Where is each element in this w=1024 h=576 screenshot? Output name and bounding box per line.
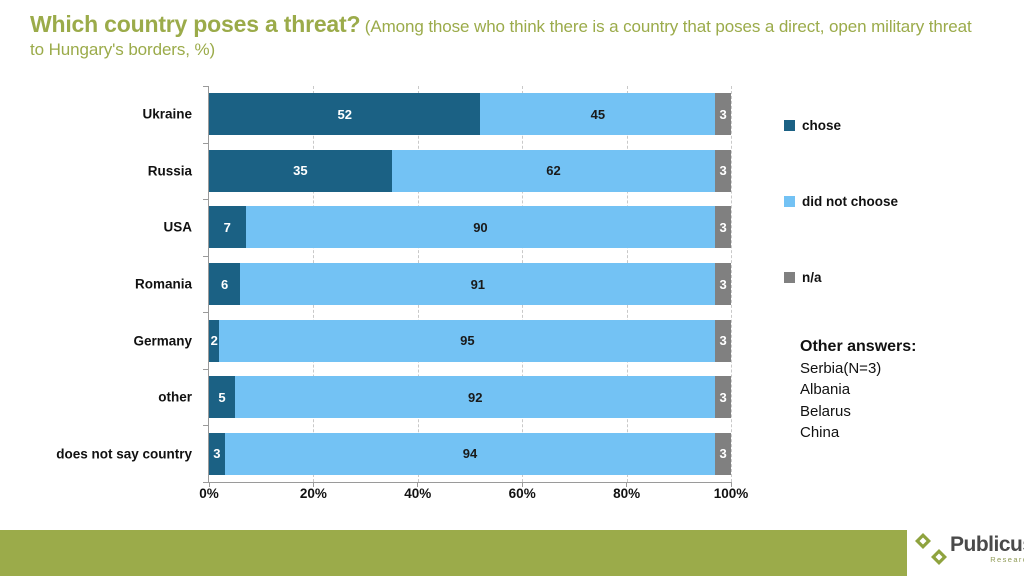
title-main: Which country poses a threat? [30, 11, 360, 37]
bar-segment[interactable]: 92 [235, 376, 715, 418]
category-axis-labels: UkraineRussiaUSARomaniaGermanyotherdoes … [0, 86, 200, 482]
y-tick-mark [203, 199, 209, 200]
bar-segment[interactable]: 3 [715, 150, 731, 192]
logo-name: Publicus [950, 534, 1024, 555]
page-title: Which country poses a threat? (Among tho… [30, 10, 980, 62]
logo-wordmark: Publicus Research [950, 534, 1024, 564]
bar-segment[interactable]: 3 [715, 93, 731, 135]
y-tick-mark [203, 425, 209, 426]
y-tick-mark [203, 256, 209, 257]
y-tick-mark [203, 86, 209, 87]
bar-row[interactable]: 5923 [209, 376, 731, 418]
legend-item[interactable]: n/a [784, 270, 822, 285]
bar-segment[interactable]: 94 [225, 433, 716, 475]
legend-label: did not choose [802, 194, 898, 209]
diamond-logo-icon [914, 532, 948, 566]
y-tick-mark [203, 312, 209, 313]
bar-segment[interactable]: 3 [715, 263, 731, 305]
bar-segment[interactable]: 7 [209, 206, 246, 248]
bar-segment[interactable]: 35 [209, 150, 392, 192]
other-answers-title: Other answers: [800, 338, 1020, 356]
bar-segment[interactable]: 3 [715, 206, 731, 248]
legend-item[interactable]: did not choose [784, 194, 898, 209]
other-answer-item: Albania [800, 379, 1020, 400]
y-tick-mark [203, 369, 209, 370]
x-tick-label: 100% [714, 486, 749, 501]
category-label: Germany [0, 333, 192, 348]
x-tick-label: 60% [509, 486, 536, 501]
footer-bar [0, 530, 907, 576]
category-label: Romania [0, 277, 192, 292]
y-tick-mark [203, 143, 209, 144]
legend-swatch-icon [784, 120, 795, 131]
y-tick-mark [203, 482, 209, 483]
publicus-logo: Publicus Research [914, 532, 1024, 566]
x-tick-label: 80% [613, 486, 640, 501]
chart-container: UkraineRussiaUSARomaniaGermanyotherdoes … [0, 86, 770, 516]
category-label: Russia [0, 163, 192, 178]
x-tick-label: 40% [404, 486, 431, 501]
category-label: does not say country [0, 446, 192, 461]
bar-row[interactable]: 7903 [209, 206, 731, 248]
x-tick-label: 0% [199, 486, 219, 501]
other-answer-item: China [800, 422, 1020, 443]
gridline [731, 86, 733, 482]
x-tick-label: 20% [300, 486, 327, 501]
bar-row[interactable]: 52453 [209, 93, 731, 135]
legend-swatch-icon [784, 272, 795, 283]
bar-segment[interactable]: 91 [240, 263, 715, 305]
bar-segment[interactable]: 3 [209, 433, 225, 475]
legend-item[interactable]: chose [784, 118, 841, 133]
x-axis-tick-labels: 0%20%40%60%80%100% [209, 484, 731, 508]
x-axis-line [208, 482, 732, 483]
logo-subtitle: Research [950, 556, 1024, 564]
legend-swatch-icon [784, 196, 795, 207]
bar-row[interactable]: 35623 [209, 150, 731, 192]
other-answer-item: Belarus [800, 401, 1020, 422]
bar-segment[interactable]: 3 [715, 320, 731, 362]
bar-segment[interactable]: 5 [209, 376, 235, 418]
bar-segment[interactable]: 6 [209, 263, 240, 305]
legend-label: chose [802, 118, 841, 133]
other-answers-block: Other answers: Serbia(N=3)AlbaniaBelarus… [800, 338, 1020, 443]
bar-segment[interactable]: 52 [209, 93, 480, 135]
bar-row[interactable]: 6913 [209, 263, 731, 305]
bar-segment[interactable]: 62 [392, 150, 716, 192]
other-answers-list: Serbia(N=3)AlbaniaBelarusChina [800, 358, 1020, 443]
bar-segment[interactable]: 2 [209, 320, 219, 362]
other-answer-item: Serbia(N=3) [800, 358, 1020, 379]
bar-segment[interactable]: 3 [715, 376, 731, 418]
bar-row[interactable]: 2953 [209, 320, 731, 362]
legend-label: n/a [802, 270, 822, 285]
bar-segment[interactable]: 95 [219, 320, 715, 362]
bar-segment[interactable]: 45 [480, 93, 715, 135]
bar-row[interactable]: 3943 [209, 433, 731, 475]
category-label: other [0, 390, 192, 405]
plot-area: 524533562379036913295359233943 [209, 86, 731, 482]
bar-segment[interactable]: 3 [715, 433, 731, 475]
category-label: Ukraine [0, 107, 192, 122]
bar-segment[interactable]: 90 [246, 206, 716, 248]
category-label: USA [0, 220, 192, 235]
